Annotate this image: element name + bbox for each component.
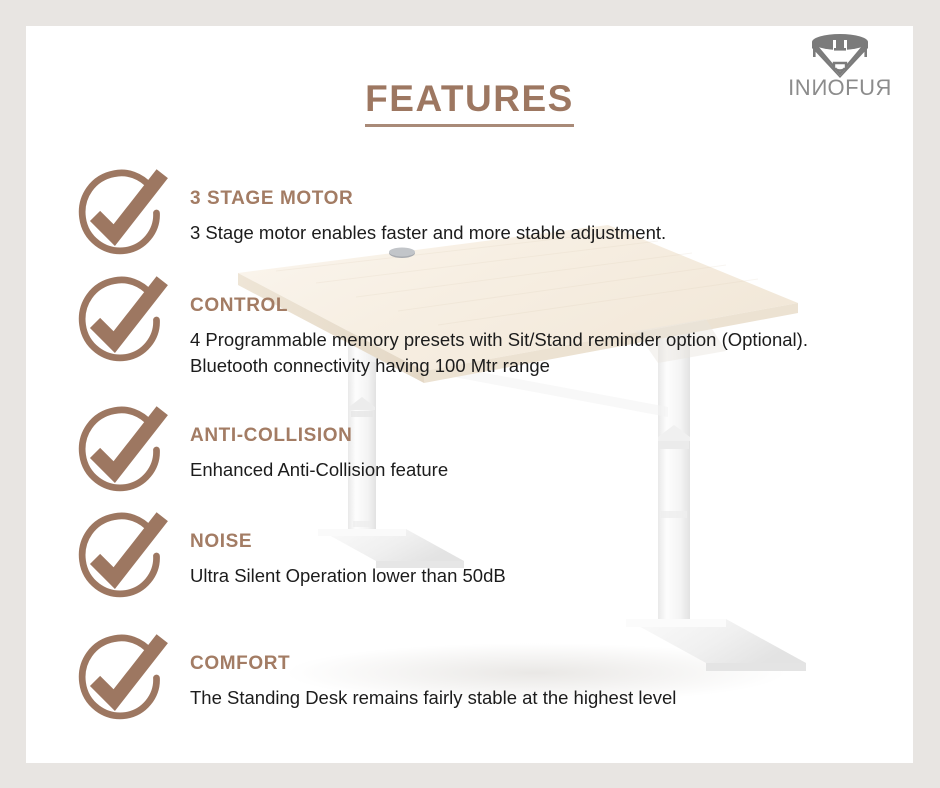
feature-item: 3 STAGE MOTOR 3 Stage motor enables fast…: [72, 186, 883, 262]
feature-heading: NOISE: [190, 531, 883, 554]
check-circle-icon: [72, 403, 168, 499]
check-circle-icon: [72, 631, 168, 727]
feature-heading: COMFORT: [190, 653, 883, 676]
feature-description: The Standing Desk remains fairly stable …: [190, 685, 815, 711]
feature-heading: CONTROL: [190, 295, 883, 318]
feature-item: NOISE Ultra Silent Operation lower than …: [72, 529, 883, 605]
features-list: 3 STAGE MOTOR 3 Stage motor enables fast…: [26, 26, 913, 763]
page-background: INNOFUR FEATURES 3 STAGE MOTOR 3 Stage m…: [0, 0, 940, 788]
feature-description: 3 Stage motor enables faster and more st…: [190, 220, 815, 246]
check-circle-icon: [72, 273, 168, 369]
feature-heading: ANTI-COLLISION: [190, 425, 883, 448]
feature-description: 4 Programmable memory presets with Sit/S…: [190, 327, 815, 380]
feature-description: Ultra Silent Operation lower than 50dB: [190, 563, 815, 589]
content-card: INNOFUR FEATURES 3 STAGE MOTOR 3 Stage m…: [26, 26, 913, 763]
feature-description: Enhanced Anti-Collision feature: [190, 457, 815, 483]
check-circle-icon: [72, 509, 168, 605]
feature-item: CONTROL 4 Programmable memory presets wi…: [72, 293, 883, 379]
feature-item: COMFORT The Standing Desk remains fairly…: [72, 651, 883, 727]
check-circle-icon: [72, 166, 168, 262]
feature-item: ANTI-COLLISION Enhanced Anti-Collision f…: [72, 423, 883, 499]
feature-heading: 3 STAGE MOTOR: [190, 188, 883, 211]
